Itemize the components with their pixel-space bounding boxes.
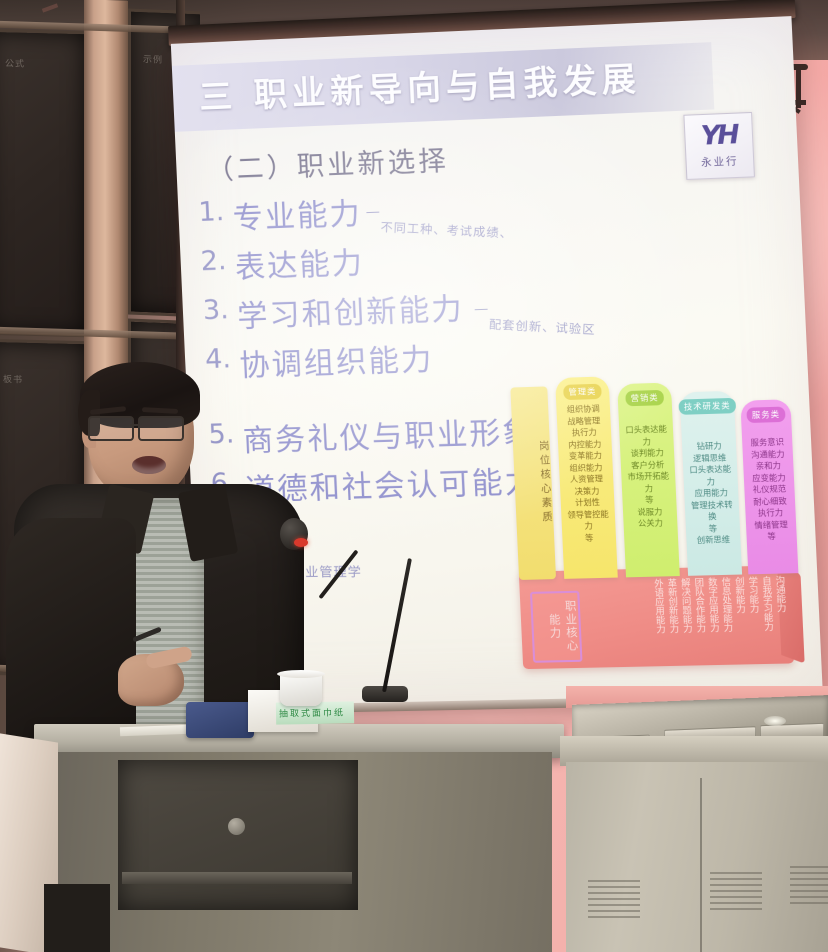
cabinet-vent (790, 866, 828, 906)
column-item: 执行力 (750, 507, 790, 520)
column-item: 礼仪规范 (749, 483, 789, 496)
podium-shelf (122, 872, 352, 884)
company-logo: YH 永业行 (683, 112, 755, 180)
column-header: 服务类 (746, 407, 785, 423)
bullet-text: 学习和创新能力 (236, 284, 464, 336)
chalk-note: 示例 (143, 52, 163, 66)
column-item: 管理技术转换 (690, 499, 735, 524)
rack-highlight (764, 716, 786, 726)
diagram-column: 技术研发类 钻研力 逻辑思维 口头表达能力 应用能力 管理技术转换 等 创新思维 (680, 391, 742, 576)
cabinet-vent (710, 872, 762, 912)
column-item: 谈判能力 (625, 447, 669, 460)
column-header: 营销类 (625, 390, 664, 406)
column-item: 服务意识 (747, 436, 787, 449)
annotation-dash: — (365, 204, 380, 221)
column-item: 人资管理 (565, 473, 609, 486)
blackboard-panel: 公式 (0, 29, 88, 337)
column-item: 口头表达能力 (688, 463, 733, 488)
equipment-cabinet (566, 762, 828, 952)
column-header: 技术研发类 (678, 398, 736, 415)
cabinet-door-seam (700, 778, 702, 952)
column-items: 组织协调 战略管理 执行力 内控能力 变革能力 组织能力 人资管理 决策力 计划… (561, 403, 611, 544)
chalk-note: 公式 (5, 56, 25, 69)
column-item: 口头表达能力 (624, 423, 668, 448)
lecture-hall-photo: 公式 板书 示例 三 职业新导向与自我发展 （二）职业新选择 (0, 0, 828, 952)
column-item: 市场开拓能力 (626, 470, 670, 495)
column-item: 等 (752, 530, 792, 543)
bullet-text: 专业能力 (232, 189, 363, 238)
mouth (132, 456, 166, 474)
bullet-number: 2. (200, 245, 227, 277)
annotation-dash: — (474, 301, 489, 318)
glasses-icon (86, 416, 200, 438)
diagram-column: 服务类 服务意识 沟通能力 亲和力 应变能力 礼仪规范 耐心细致 执行力 情绪管… (740, 399, 798, 574)
column-item: 情绪管理 (751, 519, 791, 532)
cabinet-vent (588, 880, 640, 920)
column-items: 钻研力 逻辑思维 口头表达能力 应用能力 管理技术转换 等 创新思维 (687, 440, 735, 547)
column-item: 领导管控能力 (566, 508, 610, 533)
microphone-indicator (294, 538, 308, 547)
logo-text: 永业行 (686, 152, 753, 170)
column-item: 等 (567, 531, 611, 544)
tissue-box-text: 抽取式面巾纸 (279, 705, 345, 719)
podium-recess (118, 760, 358, 910)
diagram-base-label-box: 职业核心能力 (530, 591, 583, 663)
column-item: 组织协调 (561, 403, 605, 416)
column-item: 应用能力 (689, 487, 733, 500)
diagram-column: 管理类 组织协调 战略管理 执行力 内控能力 变革能力 组织能力 人资管理 决策… (555, 376, 618, 579)
logo-monogram-icon: YH (685, 119, 753, 152)
column-items: 服务意识 沟通能力 亲和力 应变能力 礼仪规范 耐心细致 执行力 情绪管理 等 (747, 436, 792, 543)
diagram-side-column: 岗位核心素质 (510, 386, 556, 580)
bullet-number: 3. (202, 294, 229, 326)
column-header: 管理类 (563, 384, 602, 400)
column-items: 口头表达能力 谈判能力 客户分析 市场开拓能力 等 说服力 公关力 (624, 423, 672, 530)
column-item: 战略管理 (562, 415, 606, 428)
bullet-number: 1. (198, 196, 225, 228)
competency-diagram: 岗位核心素质 管理类 组织协调 战略管理 执行力 内控能力 变革能力 组织能力 … (510, 364, 805, 677)
column-item: 变革能力 (564, 450, 608, 463)
side-column-label: 岗位核心素质 (512, 417, 555, 550)
diagram-column: 营销类 口头表达能力 谈判能力 客户分析 市场开拓能力 等 说服力 公关力 (617, 382, 680, 577)
diagram-base-items: 沟通能力 自我学习能力 学习能力 创新能力 信息处理能力 数字应用能力 团队合作… (587, 576, 788, 668)
blue-pouch (186, 702, 254, 738)
podium-shadow (44, 884, 110, 952)
bullet-text: 表达能力 (234, 238, 365, 287)
diagram-base-label: 职业核心能力 (532, 600, 580, 654)
slide-subtitle: （二）职业新选择 (206, 139, 450, 188)
column-item: 沟通能力 (748, 448, 788, 461)
column-item: 创新思维 (691, 534, 735, 547)
paper-cup-rim (277, 670, 325, 678)
column-item: 耐心细致 (750, 495, 790, 508)
podium-knob[interactable] (228, 818, 245, 835)
column-item: 公关力 (628, 517, 672, 530)
